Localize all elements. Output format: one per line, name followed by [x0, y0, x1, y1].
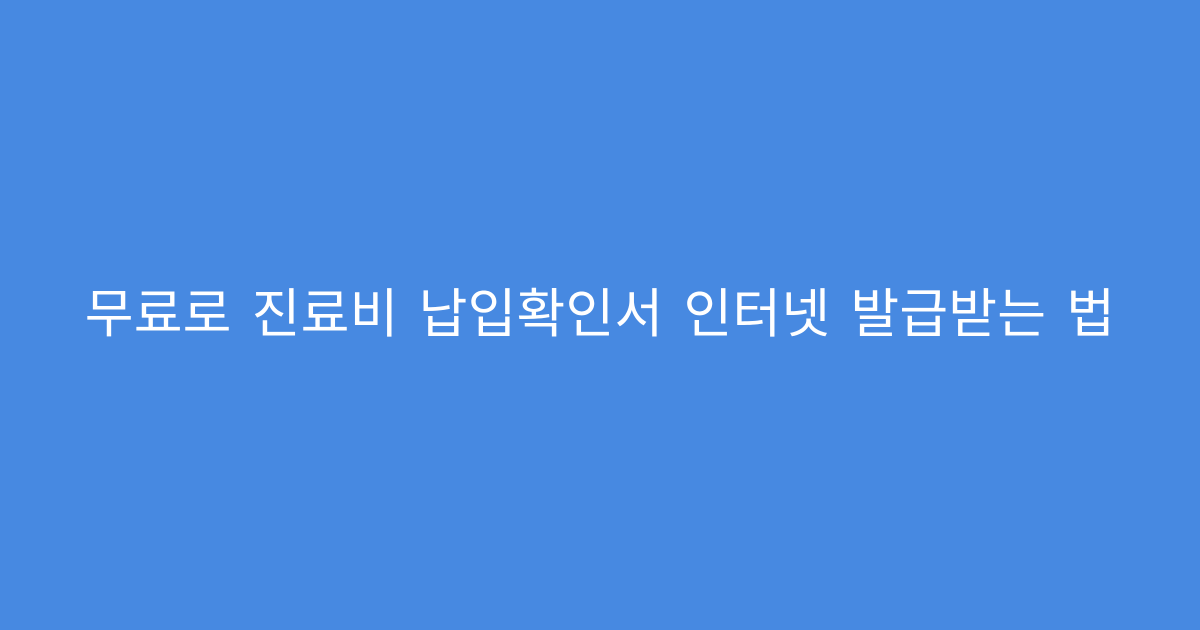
page-title: 무료로 진료비 납입확인서 인터넷 발급받는 법 — [60, 284, 1140, 347]
share-card-canvas: 무료로 진료비 납입확인서 인터넷 발급받는 법 — [0, 0, 1200, 630]
